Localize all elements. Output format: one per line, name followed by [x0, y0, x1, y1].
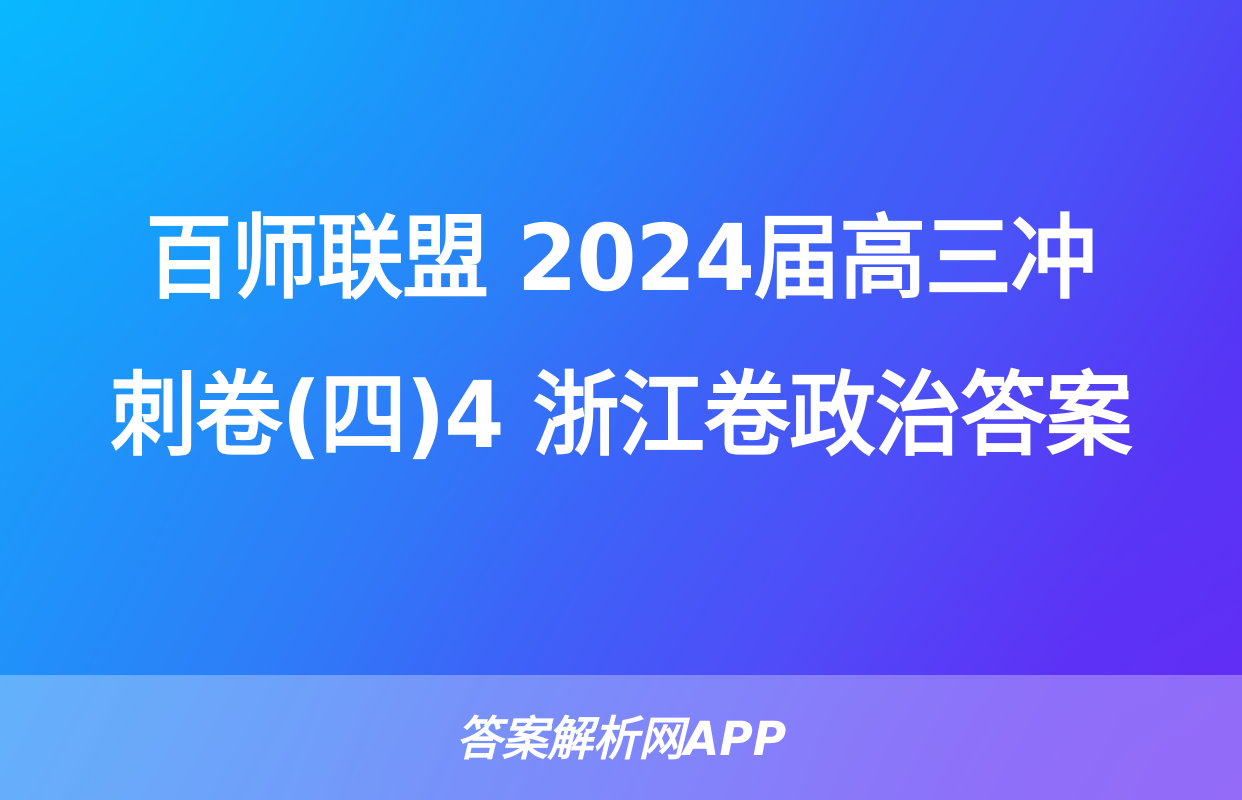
app-watermark-label: 答案解析网APP — [456, 716, 786, 763]
poster-canvas: 百师联盟 2024届高三冲刺卷(四)4 浙江卷政治答案 答案解析网APP — [0, 0, 1242, 800]
footer-watermark-band: 答案解析网APP — [0, 675, 1242, 800]
title-container: 百师联盟 2024届高三冲刺卷(四)4 浙江卷政治答案 — [0, 0, 1242, 675]
page-title: 百师联盟 2024届高三冲刺卷(四)4 浙江卷政治答案 — [107, 181, 1135, 494]
